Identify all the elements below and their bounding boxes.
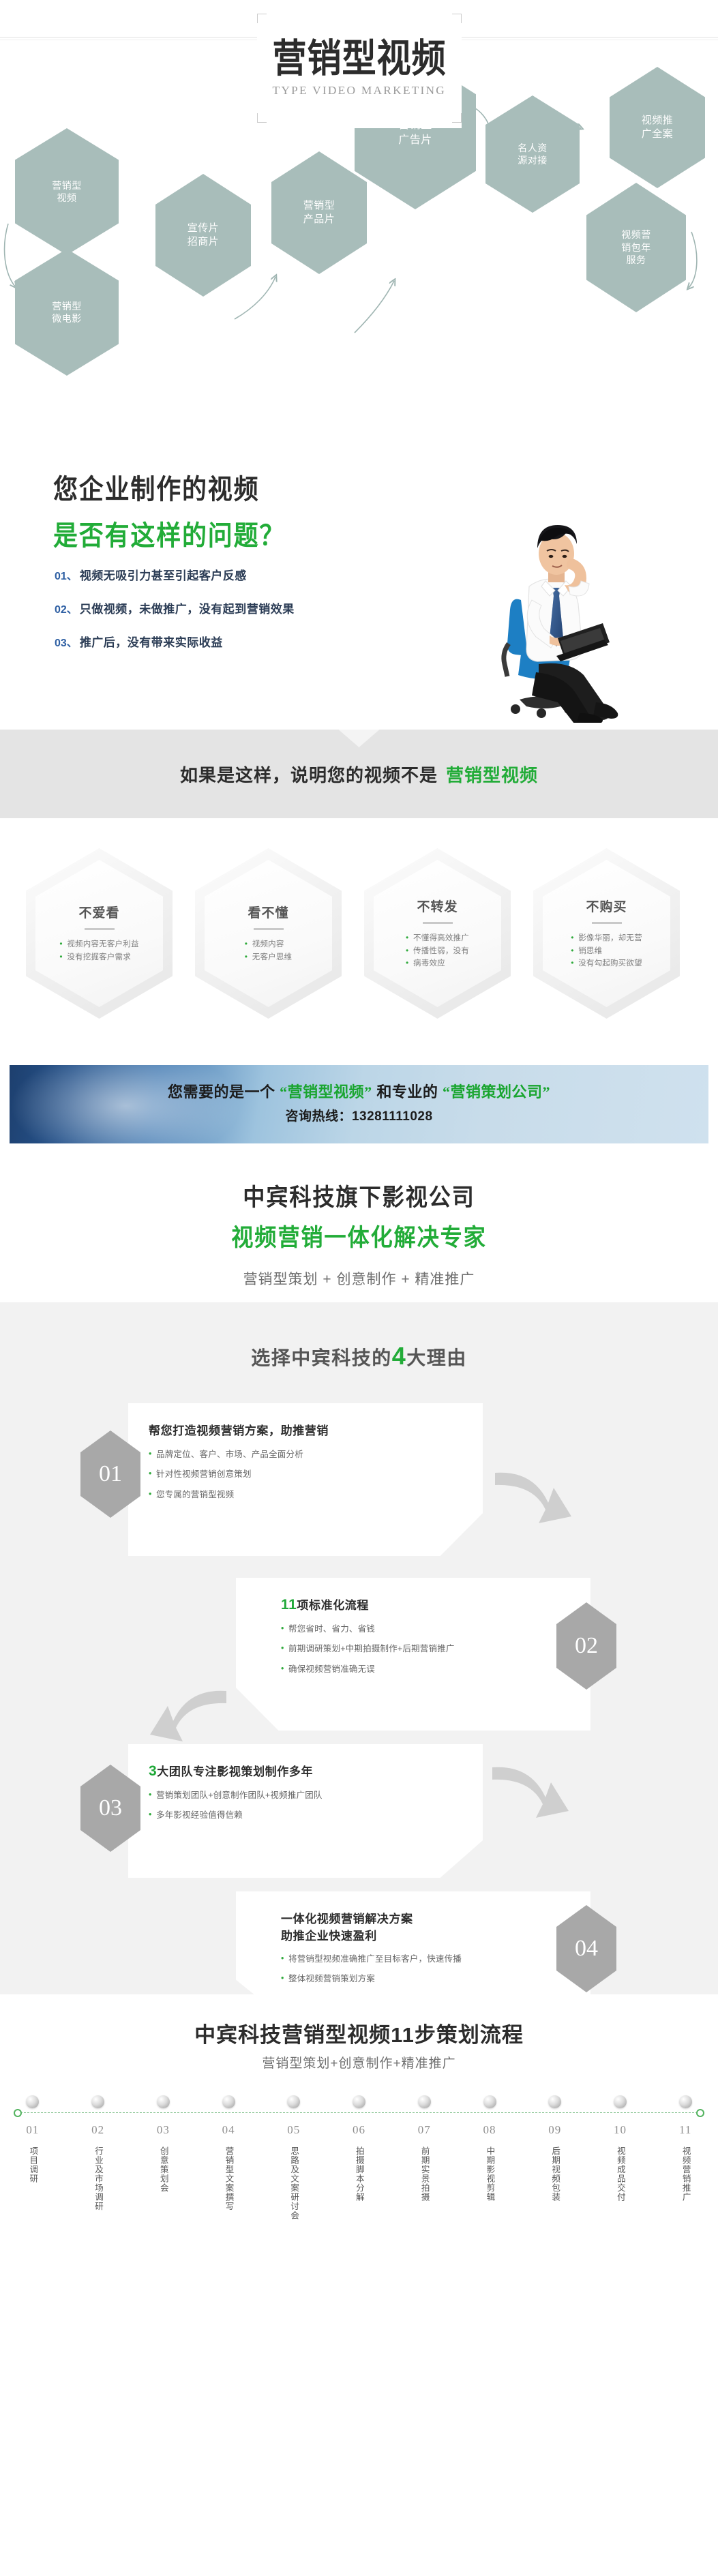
timeline-step-label: 拍摄脚本分解: [353, 2146, 365, 2249]
problem-card-title: 不购买: [586, 897, 627, 915]
cta-banner: 您需要的是一个 “营销型视频” 和专业的 “营销策划公司” 咨询热线：13281…: [10, 1065, 708, 1143]
problem-card-1[interactable]: 不爱看 视频内容无客户利益 没有挖掘客户需求: [26, 848, 173, 1019]
divider: [254, 928, 284, 930]
timeline-step-number: 04: [222, 2123, 235, 2137]
problem-heading-line2: 是否有这样的问题？: [53, 513, 285, 553]
hex-label-line: 服务: [627, 254, 646, 266]
reason-content-03: 3大团队专注影视策划制作多年 营销策划团队+创意制作团队+视频推广团队 多年影视…: [128, 1744, 483, 1878]
reason-01[interactable]: 帮您打造视频营销方案，助推营销 品牌定位、客户、市场、产品全面分析 针对性视频营…: [80, 1403, 517, 1556]
reason-heading-num: 11: [281, 1597, 297, 1613]
problem-card-body: 不购买 影像华丽，却无营 销思维 没有勾起购买欲望: [533, 848, 680, 1019]
reason-card-body-03: 3大团队专注影视策划制作多年 营销策划团队+创意制作团队+视频推广团队 多年影视…: [128, 1744, 483, 1878]
reasons-section: 选择中宾科技的4大理由 帮您打造视频营销方案，助推营销 品牌定位、客户、市场、产…: [0, 1302, 718, 1994]
problem-card-body: 不转发 不懂得高效推广 传播性弱，没有 病毒效应: [364, 848, 511, 1019]
timeline-step-label: 项目调研: [26, 2146, 39, 2249]
hero-section: 营销型视频 TYPE VIDEO MARKETING 营销型 视频 营销型: [0, 0, 718, 341]
timeline-step-number: 02: [91, 2123, 104, 2137]
hex-label-line: 广告片: [398, 133, 432, 147]
problem-card-bullets: 视频内容 无客户思维: [245, 938, 293, 964]
problem-list: 01、 视频无吸引力甚至引起客户反感 02、 只做视频，未做推广，没有起到营销效…: [55, 566, 295, 666]
timeline-step-label: 思路及文案研讨会: [287, 2146, 300, 2249]
hex-label-line: 源对接: [518, 154, 548, 166]
reason-heading-04: 一体化视频营销解决方案 助推企业快速盈利: [281, 1909, 570, 1943]
problem-card-title: 不转发: [417, 897, 458, 915]
hero-hexagon-3[interactable]: 营销型 产品片: [271, 151, 367, 274]
timeline-step-label: 后期视频包装: [548, 2146, 561, 2249]
reason-card-body-02: 11项标准化流程 帮您省时、省力、省钱 前期调研策划+中期拍摄制作+后期营销推广…: [236, 1578, 590, 1731]
bullet-item: 将营销型视频准确推广至目标客户，快速传播: [281, 1953, 570, 1966]
hex-label-line: 营销型: [52, 300, 82, 312]
problem-item-number: 03、: [55, 633, 78, 650]
hero-title-box: 营销型视频 TYPE VIDEO MARKETING: [257, 8, 462, 128]
reason-02[interactable]: 11项标准化流程 帮您省时、省力、省钱 前期调研策划+中期拍摄制作+后期营销推广…: [202, 1578, 638, 1731]
reason-content-01: 帮您打造视频营销方案，助推营销 品牌定位、客户、市场、产品全面分析 针对性视频营…: [128, 1403, 483, 1556]
problem-card-title: 看不懂: [248, 903, 288, 921]
bullet-item: 确保视频营销准确无误: [281, 1663, 570, 1676]
reason-03[interactable]: 3大团队专注影视策划制作多年 营销策划团队+创意制作团队+视频推广团队 多年影视…: [80, 1744, 517, 1878]
timeline-step-1[interactable]: 01 项目调研: [0, 2095, 65, 2249]
hex-label-line: 视频: [57, 192, 77, 204]
reasons-title-suffix: 大理由: [406, 1347, 467, 1368]
bullet-item: 营销策划团队+创意制作团队+视频推广团队: [149, 1789, 462, 1802]
timeline-subtitle: 营销型策划+创意制作+精准推广: [0, 2053, 718, 2071]
reason-content-02: 11项标准化流程 帮您省时、省力、省钱 前期调研策划+中期拍摄制作+后期营销推广…: [236, 1578, 590, 1731]
bullet-item: 传播性弱，没有: [406, 945, 469, 958]
cta-middle: 和专业的: [376, 1083, 438, 1100]
hex-label-line: 宣传片: [188, 222, 220, 235]
problem-card-4[interactable]: 不购买 影像华丽，却无营 销思维 没有勾起购买欲望: [533, 848, 680, 1019]
hex-label-line: 微电影: [52, 312, 82, 325]
reason-bullets-02: 帮您省时、省力、省钱 前期调研策划+中期拍摄制作+后期营销推广 确保视频营销准确…: [281, 1623, 570, 1676]
timeline-step-label: 前期实景拍摄: [418, 2146, 431, 2249]
corner-bracket-icon: [257, 14, 267, 23]
ribbon-text-highlight: 营销型视频: [446, 762, 538, 787]
timeline-step-label: 营销型文案撰写: [222, 2146, 235, 2249]
reasons-title-number: 4: [392, 1342, 407, 1370]
reasons-title: 选择中宾科技的4大理由: [0, 1342, 718, 1371]
cta-banner-line1: 您需要的是一个 “营销型视频” 和专业的 “营销策划公司”: [10, 1080, 708, 1102]
bullet-item: 不懂得高效推广: [406, 932, 469, 945]
timeline-dot-icon: [418, 2095, 431, 2108]
timeline-step-11[interactable]: 11 视频营销推广: [653, 2095, 718, 2249]
timeline-step-number: 11: [679, 2123, 691, 2137]
hero-hexagon-1[interactable]: 营销型 视频: [15, 128, 119, 255]
divider: [85, 928, 115, 930]
company-section: 中宾科技旗下影视公司 视频营销一体化解决专家 营销型策划 + 创意制作 + 精准…: [0, 1166, 718, 1302]
timeline-dot-icon: [614, 2095, 627, 2108]
divider: [592, 922, 622, 924]
reason-bullets-03: 营销策划团队+创意制作团队+视频推广团队 多年影视经验值得信赖: [149, 1789, 462, 1823]
problem-card-title: 不爱看: [78, 903, 119, 921]
company-line1: 中宾科技旗下影视公司: [29, 1178, 689, 1213]
bullet-item-cont: 销思维: [571, 945, 642, 958]
hex-label-line: 销包年: [621, 241, 651, 254]
company-line3: 营销型策划 + 创意制作 + 精准推广: [0, 1268, 718, 1289]
problem-card-bullets: 视频内容无客户利益 没有挖掘客户需求: [59, 938, 138, 964]
cta-quote-2: “营销策划公司”: [443, 1083, 550, 1100]
problem-list-item: 01、 视频无吸引力甚至引起客户反感: [55, 566, 295, 583]
reason-heading-03: 3大团队专注影视策划制作多年: [149, 1762, 462, 1780]
cta-quote-1: “营销型视频”: [280, 1083, 372, 1100]
timeline-dot-icon: [26, 2095, 39, 2108]
bullet-item: 多年影视经验值得信赖: [149, 1809, 462, 1822]
timeline-step-5[interactable]: 05 思路及文案研讨会: [261, 2095, 327, 2249]
timeline-step-number: 05: [287, 2123, 300, 2137]
timeline-step-6[interactable]: 06 拍摄脚本分解: [327, 2095, 392, 2249]
bullet-item: 您专属的营销型视频: [149, 1488, 462, 1501]
timeline-step-label: 视频营销推广: [679, 2146, 692, 2249]
hex-label-line: 名人资: [518, 142, 548, 154]
problem-list-item: 03、 推广后，没有带来实际收益: [55, 633, 295, 650]
timeline-step-number: 01: [26, 2123, 39, 2137]
hero-hexagon-5[interactable]: 名人资 源对接: [485, 95, 580, 213]
timeline-step-number: 07: [418, 2123, 431, 2137]
problem-card-bullets: 不懂得高效推广 传播性弱，没有 病毒效应: [406, 932, 469, 971]
timeline-title-b: 步策划流程: [415, 2023, 524, 2047]
reason-card-body-01: 帮您打造视频营销方案，助推营销 品牌定位、客户、市场、产品全面分析 针对性视频营…: [128, 1403, 483, 1556]
timeline-dot-icon: [91, 2095, 104, 2108]
problem-item-text: 视频无吸引力甚至引起客户反感: [80, 566, 247, 583]
bullet-item: 没有挖掘客户需求: [59, 951, 138, 964]
timeline-step-3[interactable]: 03 创意策划会: [130, 2095, 196, 2249]
hero-hexagon-2[interactable]: 宣传片 招商片: [155, 174, 251, 297]
hero-hexagon-8[interactable]: 视频营 销包年 服务: [586, 183, 686, 312]
timeline-step-number: 08: [483, 2123, 496, 2137]
timeline-section: 中宾科技营销型视频11步策划流程 营销型策划+创意制作+精准推广 01 项目调研…: [0, 1994, 718, 2307]
ribbon-section: 如果是这样，说明您的视频不是 营销型视频: [0, 730, 718, 818]
company-line2: 视频营销一体化解决专家: [29, 1218, 689, 1253]
timeline-step-4[interactable]: 04 营销型文案撰写: [196, 2095, 261, 2249]
problem-card-bullets: 影像华丽，却无营 销思维 没有勾起购买欲望: [571, 932, 642, 971]
cta-banner-section: 您需要的是一个 “营销型视频” 和专业的 “营销策划公司” 咨询热线：13281…: [0, 1043, 718, 1166]
problem-cards-row: 不爱看 视频内容无客户利益 没有挖掘客户需求 看不懂 视频内容 无客户思维: [0, 844, 718, 1025]
timeline-step-9[interactable]: 09 后期视频包装: [522, 2095, 588, 2249]
timeline-step-number: 06: [353, 2123, 365, 2137]
page-subtitle-en: TYPE VIDEO MARKETING: [272, 84, 446, 98]
bullet-item: 视频内容无客户利益: [59, 938, 138, 951]
hex-label-line: 广全案: [642, 128, 674, 141]
ribbon-text-main: 如果是这样，说明您的视频不是: [180, 762, 438, 787]
problem-item-number: 01、: [55, 567, 78, 583]
timeline-steps: 01 项目调研 02 行业及市场调研 03 创意策划会 04 营销型文案撰写 0…: [0, 2095, 718, 2249]
bullet-item-cont: 病毒效应: [406, 957, 469, 970]
timeline-dot-icon: [287, 2095, 300, 2108]
timeline-step-number: 09: [548, 2123, 561, 2137]
hex-label-line: 营销型: [52, 179, 82, 192]
timeline-title: 中宾科技营销型视频11步策划流程: [0, 2018, 718, 2048]
reason-heading-num: 3: [149, 1763, 157, 1779]
timeline-step-8[interactable]: 08 中期影视剪辑: [457, 2095, 522, 2249]
reason-heading-text: 大团队专注影视策划制作多年: [157, 1765, 313, 1778]
reason-bullets-01: 品牌定位、客户、市场、产品全面分析 针对性视频营销创意策划 您专属的营销型视频: [149, 1448, 462, 1501]
bullet-item: 整体视频营销策划方案: [281, 1973, 570, 1986]
timeline-step-number: 03: [157, 2123, 170, 2137]
bullet-item: 帮您省时、省力、省钱: [281, 1623, 570, 1636]
timeline-dot-icon: [483, 2095, 496, 2108]
reason-heading-text: 帮您打造视频营销方案，助推营销: [149, 1424, 329, 1437]
timeline-step-label: 创意策划会: [157, 2146, 170, 2249]
hex-label-line: 视频推: [642, 114, 674, 128]
bullet-item: 没有勾起购买欲望: [571, 957, 642, 970]
hex-label-line: 产品片: [303, 213, 335, 226]
bullet-item: 针对性视频营销创意策划: [149, 1468, 462, 1481]
problem-item-text: 只做视频，未做推广，没有起到营销效果: [80, 599, 295, 616]
problem-card-body: 看不懂 视频内容 无客户思维: [195, 848, 342, 1019]
bullet-item: 影像华丽，却无营: [571, 932, 642, 945]
businessman-photo: [455, 498, 680, 723]
timeline-step-7[interactable]: 07 前期实景拍摄: [391, 2095, 457, 2249]
problem-heading-line1: 您企业制作的视频: [53, 467, 285, 507]
timeline-dot-icon: [679, 2095, 692, 2108]
timeline-dot-icon: [157, 2095, 170, 2108]
problem-cards-section: 不爱看 视频内容无客户利益 没有挖掘客户需求 看不懂 视频内容 无客户思维: [0, 818, 718, 1043]
timeline-step-label: 行业及市场调研: [91, 2146, 104, 2249]
timeline-dot-icon: [548, 2095, 561, 2108]
reason-heading-01: 帮您打造视频营销方案，助推营销: [149, 1421, 462, 1439]
timeline-step-number: 10: [614, 2123, 627, 2137]
timeline-step-2[interactable]: 02 行业及市场调研: [65, 2095, 131, 2249]
timeline-title-a: 中宾科技营销型视频: [194, 2023, 391, 2047]
timeline-step-10[interactable]: 10 视频成品交付: [588, 2095, 653, 2249]
reason-heading-text: 项标准化流程: [297, 1599, 369, 1612]
problem-card-body: 不爱看 视频内容无客户利益 没有挖掘客户需求: [26, 848, 173, 1019]
corner-bracket-icon: [452, 113, 462, 123]
hex-label-line: 视频营: [621, 228, 651, 241]
bullet-item: 视频内容: [245, 938, 293, 951]
problem-card-3[interactable]: 不转发 不懂得高效推广 传播性弱，没有 病毒效应: [364, 848, 511, 1019]
corner-bracket-icon: [452, 14, 462, 23]
timeline-step-label: 视频成品交付: [614, 2146, 627, 2249]
page-title: 营销型视频: [272, 39, 446, 80]
bullet-item: 品牌定位、客户、市场、产品全面分析: [149, 1448, 462, 1461]
bullet-item: 无客户思维: [245, 951, 293, 964]
corner-bracket-icon: [257, 113, 267, 123]
hero-hexagon-6[interactable]: 视频推 广全案: [610, 67, 705, 188]
problem-card-2[interactable]: 看不懂 视频内容 无客户思维: [195, 848, 342, 1019]
problem-heading: 您企业制作的视频 是否有这样的问题？: [53, 467, 311, 553]
hex-label-line: 招商片: [188, 235, 220, 249]
cta-prefix: 您需要的是一个: [168, 1083, 275, 1100]
cta-hotline: 咨询热线：13281111028: [10, 1106, 708, 1124]
timeline-dot-icon: [353, 2095, 365, 2108]
problem-section: 您企业制作的视频 是否有这样的问题？ 01、 视频无吸引力甚至引起客户反感 02…: [0, 341, 718, 730]
reason-heading-02: 11项标准化流程: [281, 1596, 570, 1613]
bullet-item: 前期调研策划+中期拍摄制作+后期营销推广: [281, 1643, 570, 1656]
reason-bullets-04: 将营销型视频准确推广至目标客户，快速传播 整体视频营销策划方案: [281, 1953, 570, 1986]
timeline-dot-icon: [222, 2095, 235, 2108]
timeline-step-label: 中期影视剪辑: [483, 2146, 496, 2249]
problem-item-text: 推广后，没有带来实际收益: [80, 633, 223, 650]
problem-item-number: 02、: [55, 600, 78, 616]
problem-list-item: 02、 只做视频，未做推广，没有起到营销效果: [55, 599, 295, 616]
timeline-title-num: 11: [391, 2023, 415, 2047]
hex-label-line: 营销型: [303, 199, 335, 213]
reason-heading-text: 一体化视频营销解决方案 助推企业快速盈利: [281, 1913, 413, 1943]
reasons-title-prefix: 选择中宾科技的: [251, 1347, 392, 1368]
divider: [423, 922, 453, 924]
ribbon-text: 如果是这样，说明您的视频不是 营销型视频: [0, 730, 718, 818]
